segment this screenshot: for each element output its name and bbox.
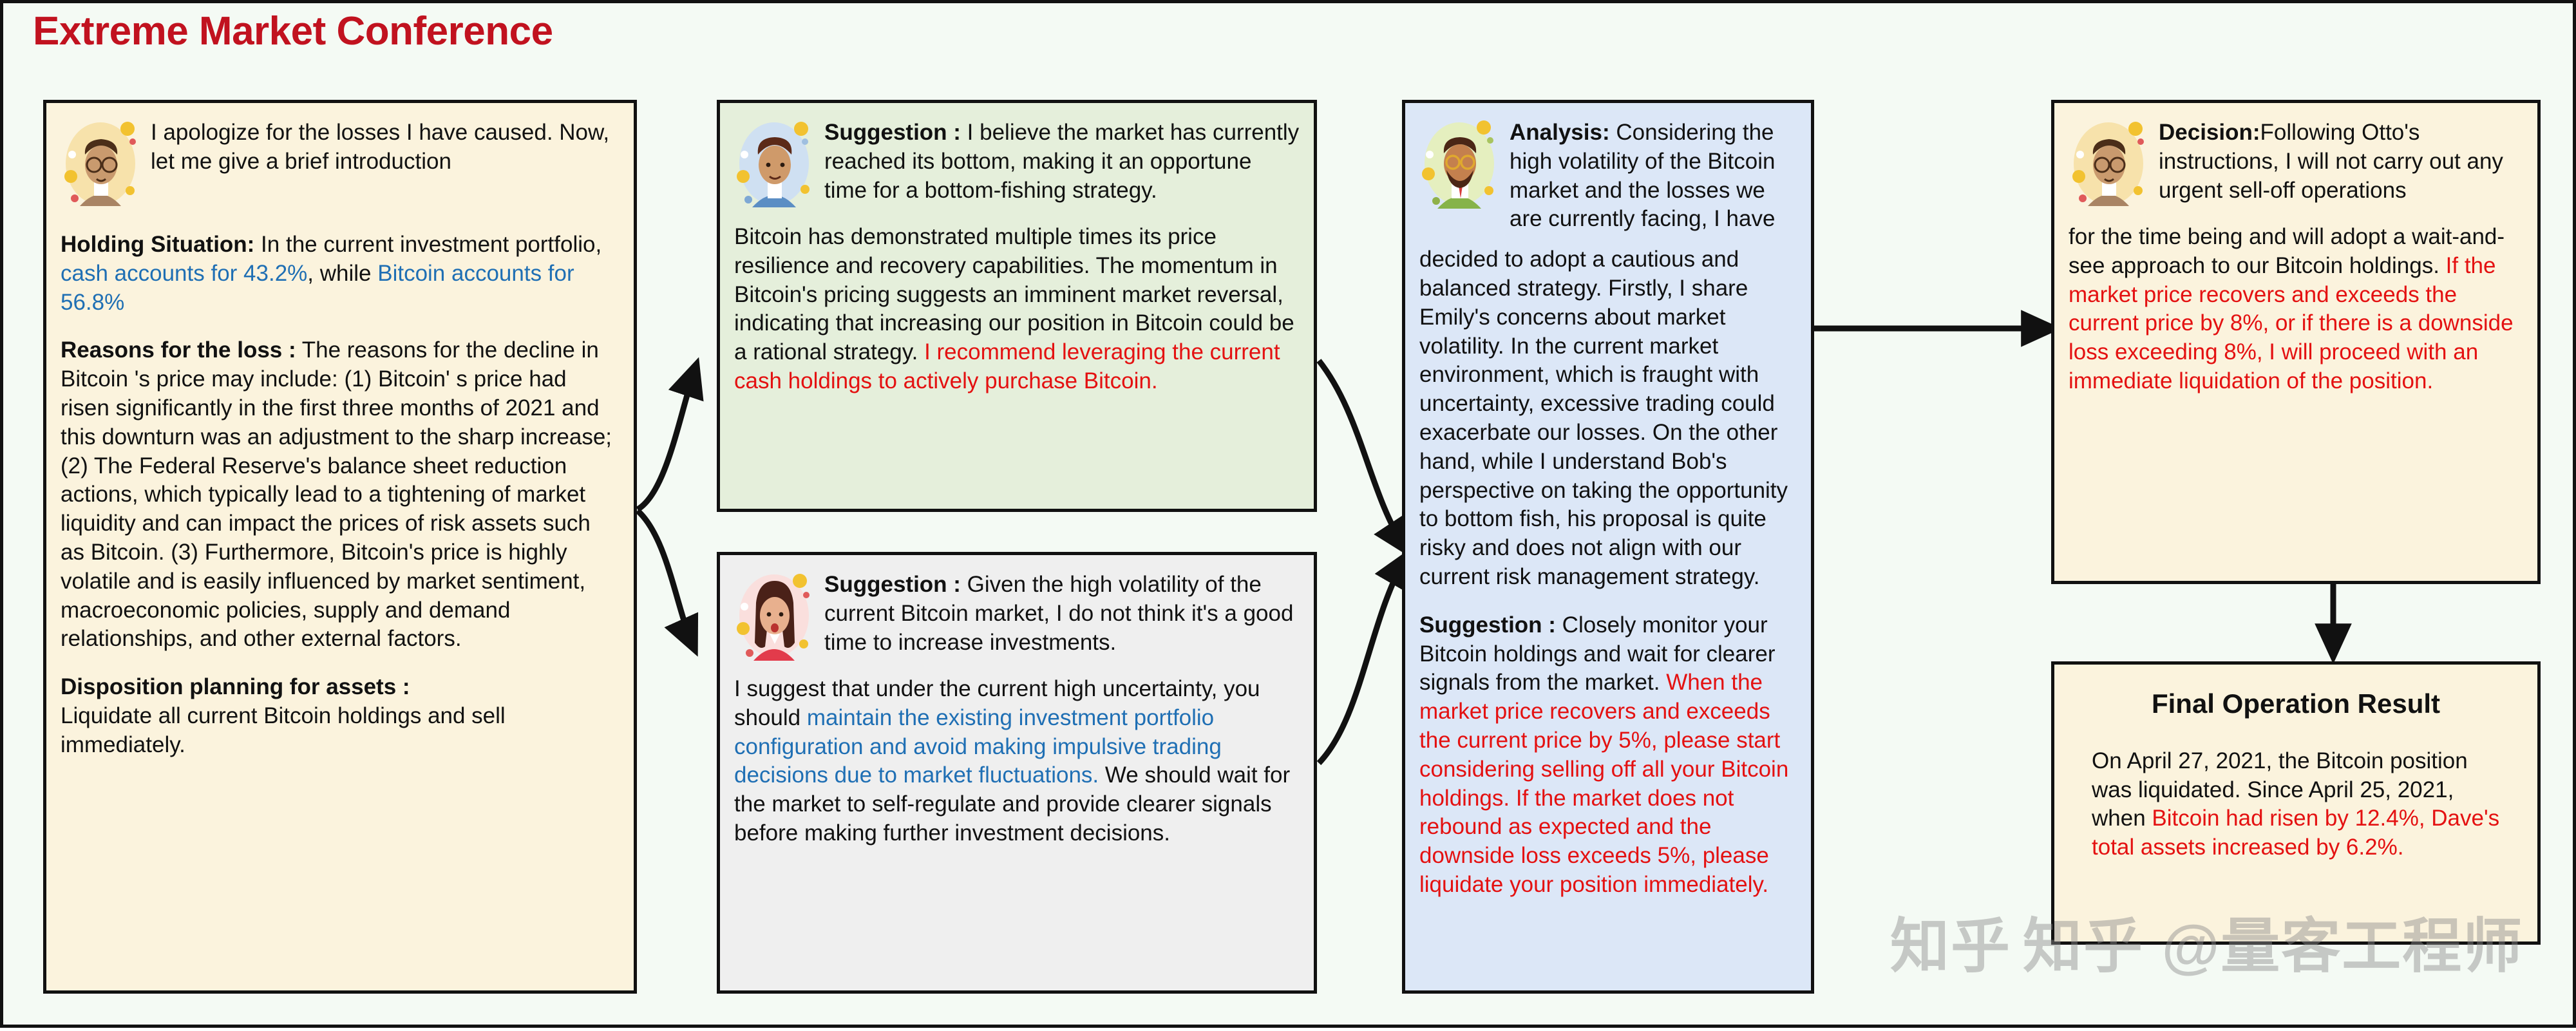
avatar-bob [734, 115, 818, 211]
emily-suggestion-label: Suggestion : [824, 572, 961, 597]
dave-decision-body: for the time being and will adopt a wait… [2069, 223, 2523, 396]
page-title: Extreme Market Conference [33, 8, 553, 54]
holding-situation-label: Holding Situation: [61, 232, 254, 257]
otto-analysis-body: decided to adopt a cautious and balanced… [1419, 245, 1797, 592]
bob-suggestion-body: Bitcoin has demonstrated multiple times … [734, 223, 1300, 396]
otto-suggestion-label: Suggestion : [1419, 612, 1556, 638]
panel-bob-suggestion: Suggestion : I believe the market has cu… [717, 100, 1317, 512]
panel-otto-analysis: Analysis: Considering the high volatilit… [1402, 100, 1814, 994]
arrow-bob-to-otto [1319, 361, 1406, 549]
arrow-dave-to-emily [638, 511, 694, 647]
dave-quote: I apologize for the losses I have caused… [151, 115, 620, 176]
watermark: 知乎知乎 @量客工程师 [1890, 898, 2523, 984]
avatar-dave-decision [2069, 115, 2152, 211]
zhihu-logo-icon: 知乎 [1890, 914, 2011, 979]
otto-analysis-head: Analysis: Considering the high volatilit… [1510, 115, 1797, 234]
final-result-body: On April 27, 2021, the Bitcoin position … [2069, 747, 2523, 862]
holding-situation-text-b: , while [307, 261, 377, 286]
dave-decision-body-text: for the time being and will adopt a wait… [2069, 224, 2505, 278]
dave-decision-head: Decision:Following Otto's instructions, … [2159, 115, 2523, 205]
disposition-label: Disposition planning for assets : [61, 674, 410, 699]
diagram-canvas: Extreme Market Conference [0, 0, 2576, 1028]
final-result-heading: Final Operation Result [2069, 686, 2523, 721]
panel-dave-intro: I apologize for the losses I have caused… [43, 100, 637, 994]
avatar-dave [61, 115, 144, 211]
reasons-label: Reasons for the loss : [61, 337, 296, 363]
bob-suggestion-label: Suggestion : [824, 120, 961, 145]
reasons-text: The reasons for the decline in Bitcoin '… [61, 337, 612, 651]
emily-suggestion-body: I suggest that under the current high un… [734, 675, 1300, 848]
final-result-highlight: Bitcoin had risen by 12.4%, Dave's total… [2092, 806, 2499, 860]
avatar-emily [734, 567, 818, 663]
panel-dave-decision: Decision:Following Otto's instructions, … [2051, 100, 2541, 584]
disposition-text: Liquidate all current Bitcoin holdings a… [61, 702, 620, 760]
emily-suggestion-head: Suggestion : Given the high volatility o… [824, 567, 1300, 657]
bob-suggestion-head: Suggestion : I believe the market has cu… [824, 115, 1300, 205]
dave-decision-label: Decision: [2159, 120, 2260, 145]
watermark-handle: 知乎 @量客工程师 [2023, 914, 2523, 979]
holding-situation-text-a: In the current investment portfolio, [254, 232, 601, 257]
arrow-emily-to-otto [1319, 557, 1406, 763]
reasons-paragraph: Reasons for the loss : The reasons for t… [61, 336, 620, 654]
otto-analysis-label: Analysis: [1510, 120, 1610, 145]
panel-emily-suggestion: Suggestion : Given the high volatility o… [717, 552, 1317, 994]
disposition-paragraph: Disposition planning for assets : Liquid… [61, 673, 620, 759]
otto-suggestion-paragraph: Suggestion : Closely monitor your Bitcoi… [1419, 611, 1797, 900]
holding-situation-paragraph: Holding Situation: In the current invest… [61, 231, 620, 317]
otto-suggestion-highlight: When the market price recovers and excee… [1419, 670, 1788, 897]
arrow-dave-to-bob [638, 367, 696, 509]
avatar-otto [1419, 115, 1503, 211]
holding-cash-highlight: cash accounts for 43.2% [61, 261, 307, 286]
